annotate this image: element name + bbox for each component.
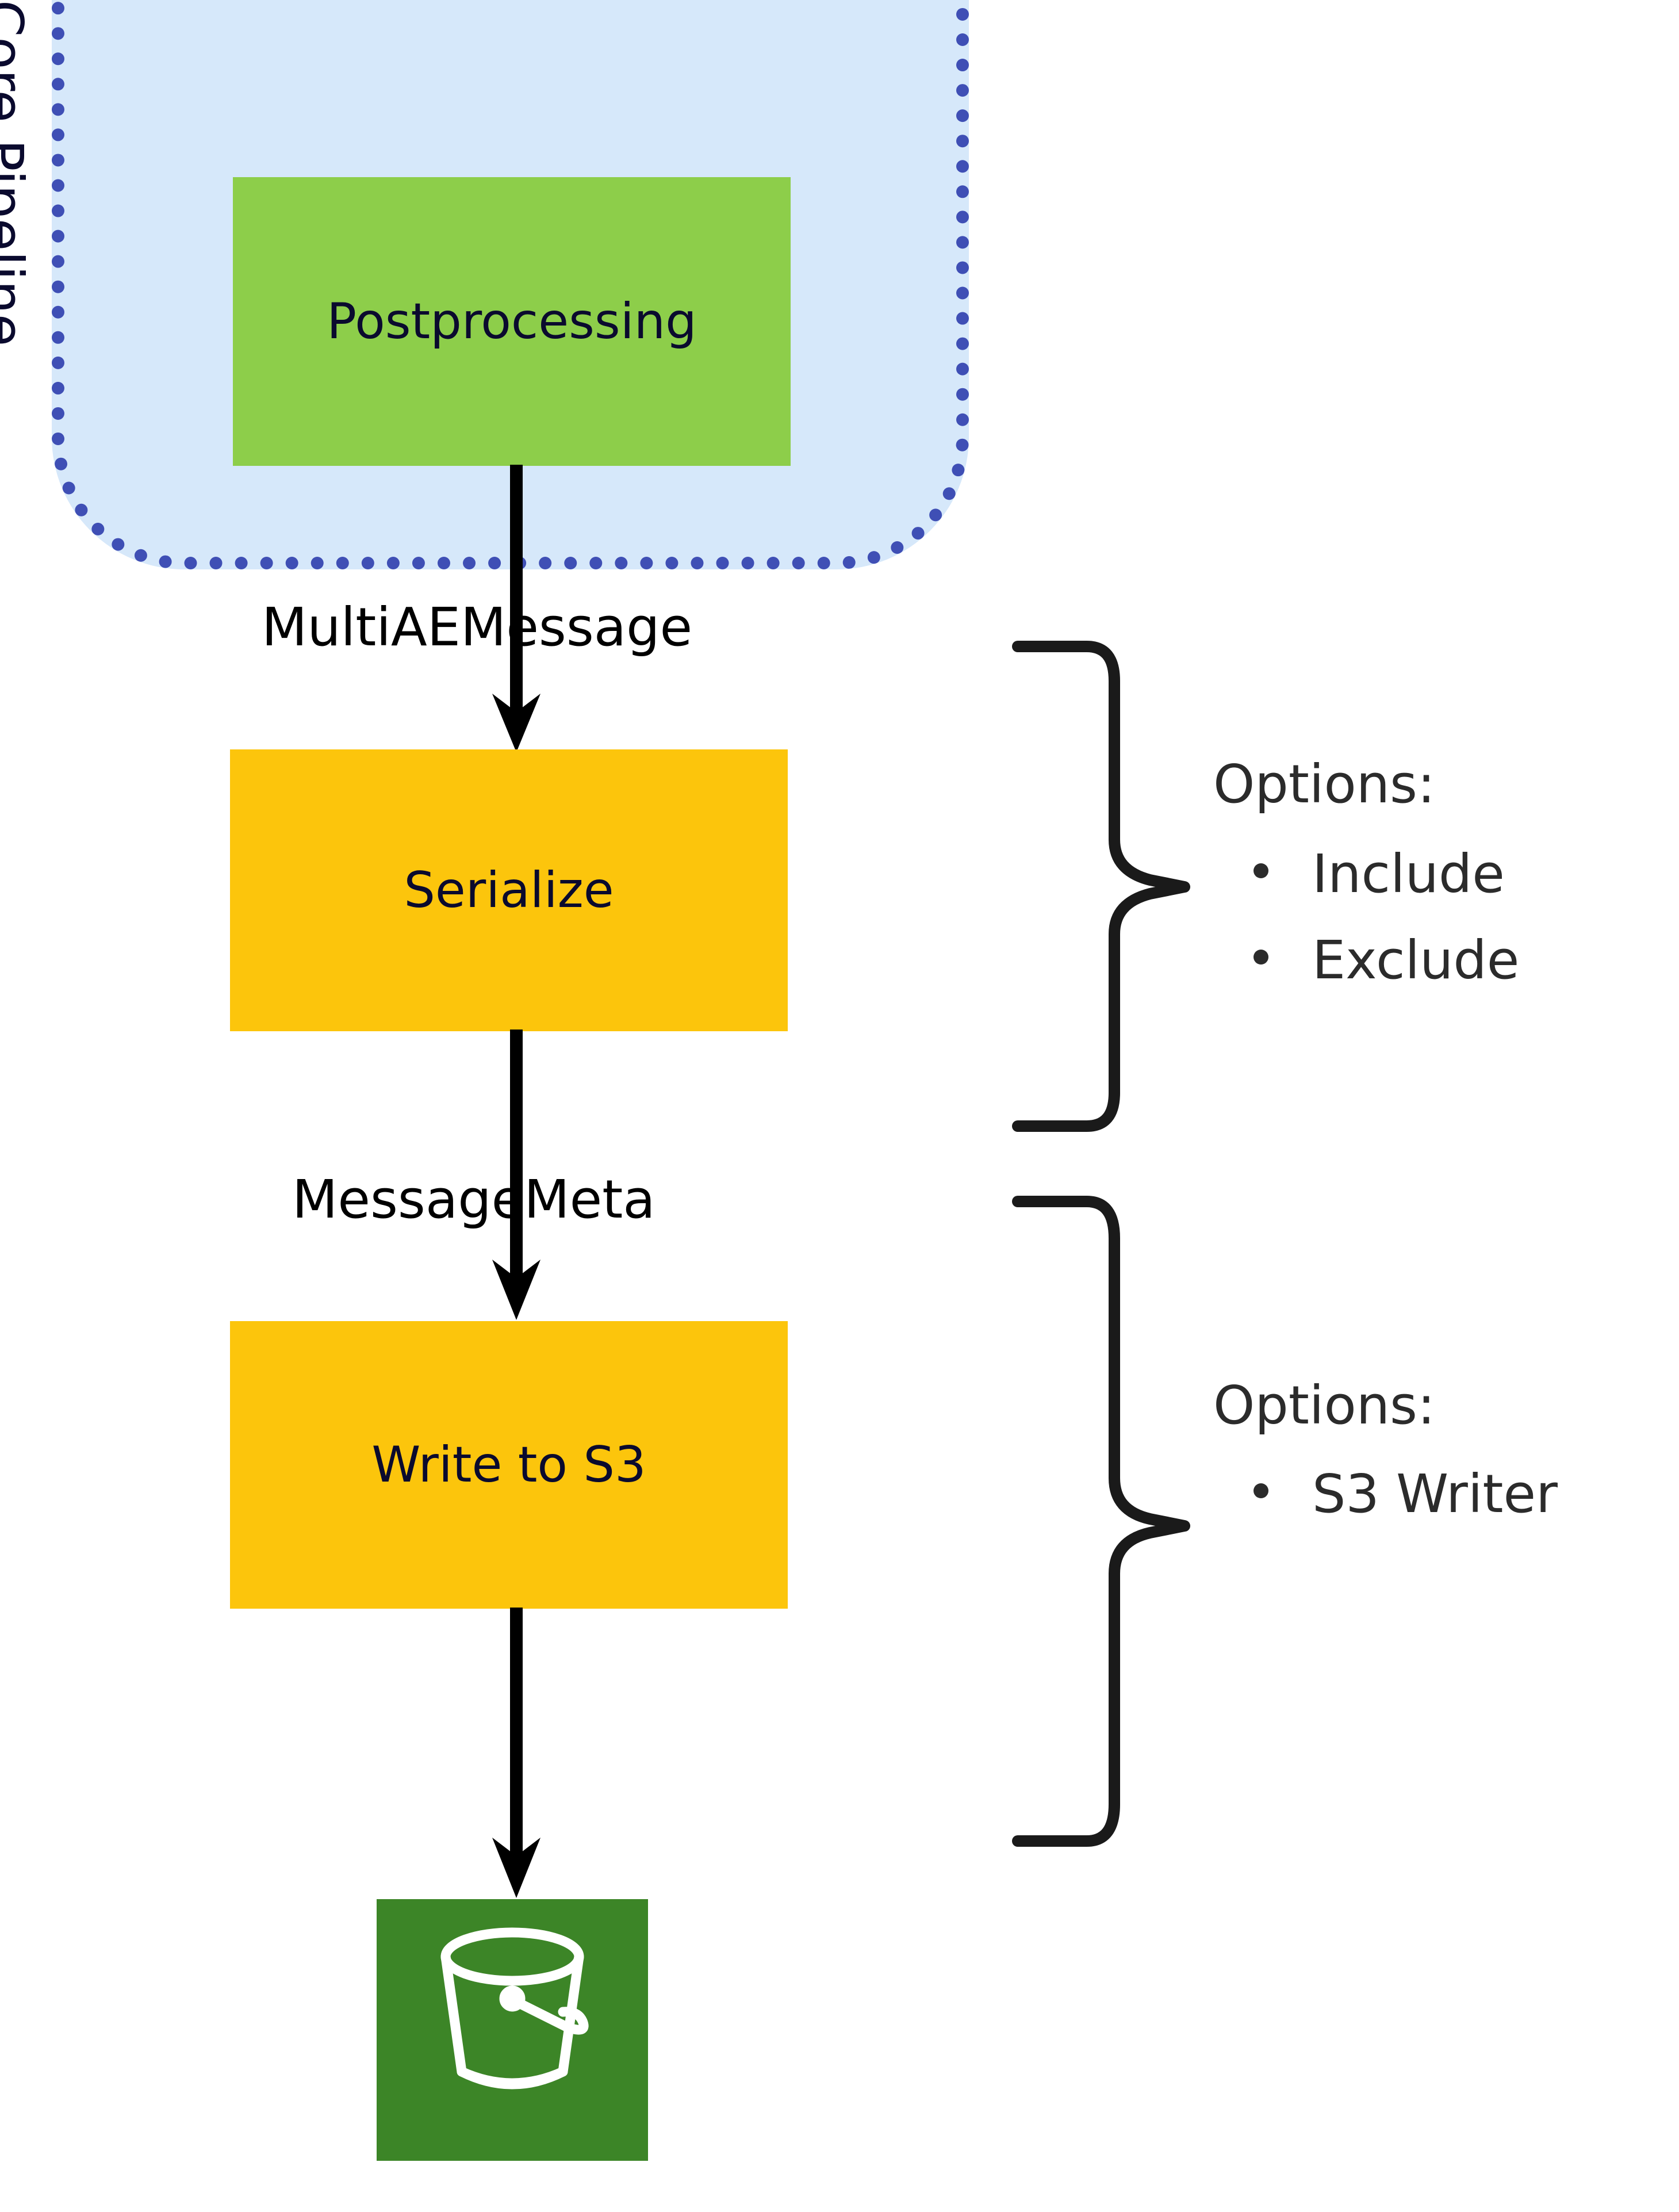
stage-serialize-label: Serialize <box>404 866 614 915</box>
connector-write-s3-to-bucket <box>482 1608 551 1902</box>
stage-write-to-s3-label: Write to S3 <box>371 1440 646 1490</box>
options-write-to-s3-list: S3 Writer <box>1213 1468 1558 1521</box>
options-write-to-s3-title: Options: <box>1213 1379 1558 1432</box>
options-serialize-item-exclude-label: Exclude <box>1312 934 1519 987</box>
bullet-icon <box>1253 1483 1268 1498</box>
s3-bucket-icon <box>377 1899 648 2161</box>
options-write-to-s3-item-s3-writer-label: S3 Writer <box>1312 1468 1558 1521</box>
options-group-write-to-s3: Options: S3 Writer <box>1213 1379 1558 1521</box>
stage-postprocessing[interactable]: Postprocessing <box>233 177 791 466</box>
stage-postprocessing-label: Postprocessing <box>327 297 696 346</box>
edge-label-multiaemessage: MultiAEMessage <box>262 601 692 654</box>
bullet-icon <box>1253 950 1268 965</box>
options-serialize-item-include[interactable]: Include <box>1213 848 1519 901</box>
options-group-serialize: Options: Include Exclude <box>1213 758 1519 987</box>
options-serialize-list: Include Exclude <box>1213 848 1519 987</box>
options-write-to-s3-item-s3-writer[interactable]: S3 Writer <box>1213 1468 1558 1521</box>
stage-serialize[interactable]: Serialize <box>230 749 788 1031</box>
bullet-icon <box>1253 863 1268 878</box>
stage-write-to-s3[interactable]: Write to S3 <box>230 1321 788 1609</box>
core-pipeline-label: Core Pipeline <box>0 0 34 242</box>
options-serialize-item-include-label: Include <box>1312 848 1505 901</box>
options-serialize-title: Options: <box>1213 758 1519 811</box>
s3-bucket-tile[interactable] <box>377 1899 648 2161</box>
options-serialize-item-exclude[interactable]: Exclude <box>1213 934 1519 987</box>
brace-serialize-options <box>1012 638 1190 1133</box>
brace-write-s3-options <box>1012 1193 1190 1849</box>
diagram-canvas: Core Pipeline Postprocessing MultiAEMess… <box>0 0 1679 2212</box>
edge-label-messagemeta: MessageMeta <box>292 1173 655 1226</box>
